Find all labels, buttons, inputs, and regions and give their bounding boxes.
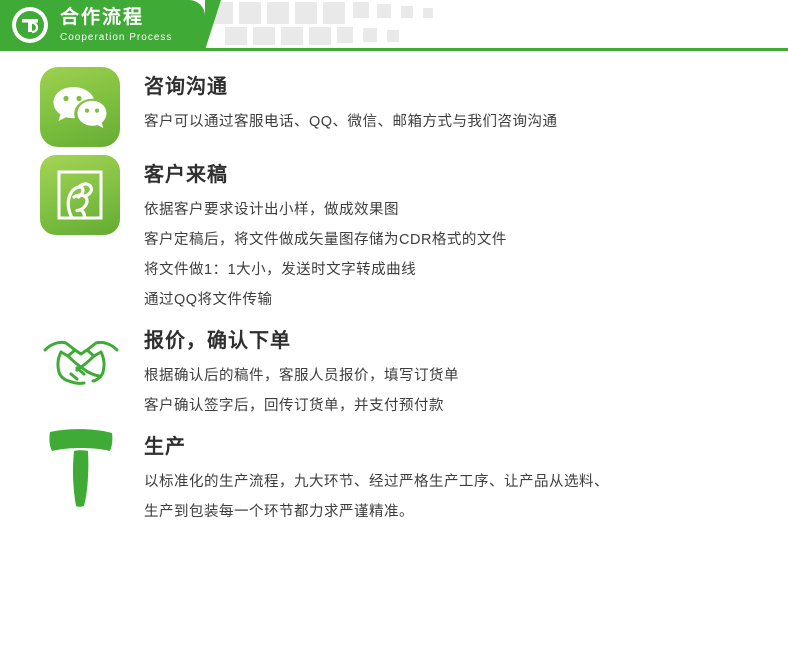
- step-line: 依据客户要求设计出小样，做成效果图: [144, 195, 507, 225]
- step-body: 咨询沟通 客户可以通过客服电话、QQ、微信、邮箱方式与我们咨询沟通: [144, 67, 558, 137]
- step-item: 咨询沟通 客户可以通过客服电话、QQ、微信、邮箱方式与我们咨询沟通: [0, 67, 788, 149]
- step-body: 客户来稿 依据客户要求设计出小样，做成效果图 客户定稿后，将文件做成矢量图存储为…: [144, 155, 507, 315]
- header-decoration: [205, 0, 788, 50]
- hammer-icon: [40, 427, 122, 509]
- header-divider: [0, 48, 788, 51]
- step-title: 咨询沟通: [144, 73, 558, 101]
- step-item: 客户来稿 依据客户要求设计出小样，做成效果图 客户定稿后，将文件做成矢量图存储为…: [0, 155, 788, 315]
- step-title: 生产: [144, 433, 609, 461]
- step-line: 将文件做1：1大小，发送时文字转成曲线: [144, 255, 507, 285]
- step-body: 报价，确认下单 根据确认后的稿件，客服人员报价，填写订货单 客户确认签字后，回传…: [144, 321, 459, 421]
- step-item: 生产 以标准化的生产流程，九大环节、经过严格生产工序、让产品从选料、 生产到包装…: [0, 427, 788, 527]
- step-icon-wrapper: [40, 155, 122, 237]
- step-item: 报价，确认下单 根据确认后的稿件，客服人员报价，填写订货单 客户确认签字后，回传…: [0, 321, 788, 421]
- steps-list: 咨询沟通 客户可以通过客服电话、QQ、微信、邮箱方式与我们咨询沟通 客户来稿 依…: [0, 57, 788, 527]
- header-title-group: 合作流程 Cooperation Process: [60, 6, 172, 45]
- company-logo: [12, 7, 48, 43]
- step-icon-wrapper: [40, 67, 122, 149]
- step-icon-wrapper: [40, 321, 122, 403]
- step-line: 客户确认签字后，回传订货单，并支付预付款: [144, 391, 459, 421]
- step-line: 通过QQ将文件传输: [144, 285, 507, 315]
- page-title: 合作流程: [60, 6, 172, 30]
- handshake-icon: [40, 321, 122, 403]
- step-title: 客户来稿: [144, 161, 507, 189]
- page-header: 合作流程 Cooperation Process: [0, 0, 788, 57]
- step-title: 报价，确认下单: [144, 327, 459, 355]
- step-line: 客户可以通过客服电话、QQ、微信、邮箱方式与我们咨询沟通: [144, 107, 558, 137]
- step-body: 生产 以标准化的生产流程，九大环节、经过严格生产工序、让产品从选料、 生产到包装…: [144, 427, 609, 527]
- step-line: 根据确认后的稿件，客服人员报价，填写订货单: [144, 361, 459, 391]
- wechat-icon: [40, 67, 120, 147]
- page-subtitle: Cooperation Process: [60, 31, 172, 45]
- step-line: 客户定稿后，将文件做成矢量图存储为CDR格式的文件: [144, 225, 507, 255]
- hand-draft-icon: [40, 155, 120, 235]
- step-line: 以标准化的生产流程，九大环节、经过严格生产工序、让产品从选料、: [144, 467, 609, 497]
- step-line: 生产到包装每一个环节都力求严谨精准。: [144, 497, 609, 527]
- step-icon-wrapper: [40, 427, 122, 509]
